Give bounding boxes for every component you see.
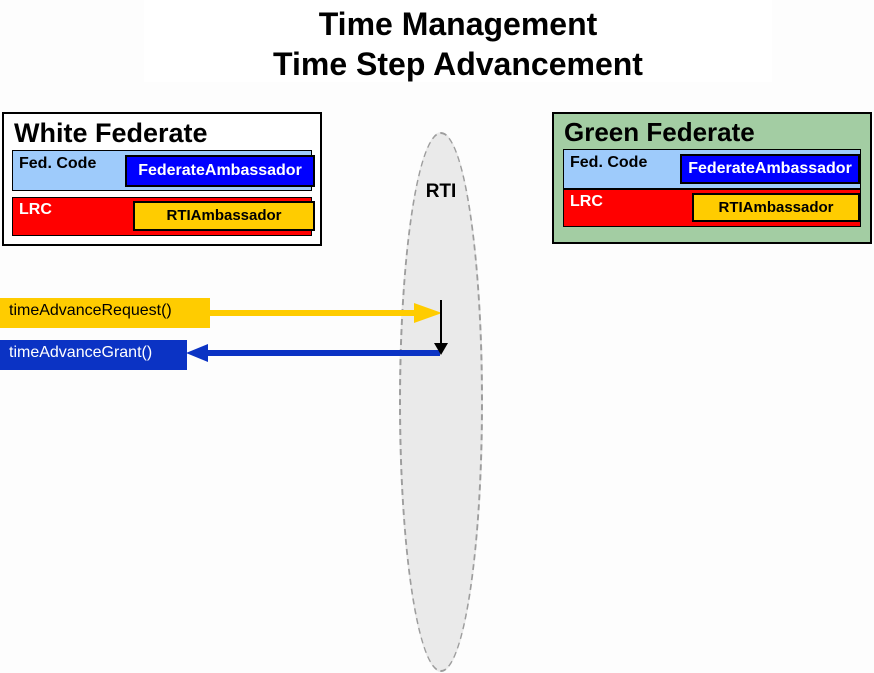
green-federate-panel: Green Federate Fed. Code FederateAmbassa… bbox=[552, 112, 872, 244]
white-fed-code-label: Fed. Code bbox=[19, 155, 96, 173]
diagram-canvas: Time Management Time Step Advancement Wh… bbox=[0, 0, 874, 673]
green-federate-fed-code-layer: Fed. Code FederateAmbassador bbox=[563, 149, 861, 189]
time-advance-request-label: timeAdvanceRequest() bbox=[0, 298, 210, 328]
rti-internal-arrow-line bbox=[440, 300, 442, 345]
green-fed-code-label: Fed. Code bbox=[570, 154, 647, 172]
rti-ellipse bbox=[399, 132, 483, 672]
time-advance-grant-arrow-line bbox=[200, 350, 440, 356]
title-block: Time Management Time Step Advancement bbox=[144, 0, 772, 82]
white-federate-fed-code-layer: Fed. Code FederateAmbassador bbox=[12, 150, 312, 191]
white-rti-ambassador-box: RTIAmbassador bbox=[133, 201, 315, 231]
time-advance-request-arrowhead-icon bbox=[414, 303, 442, 323]
page-title-line-1: Time Management bbox=[144, 4, 772, 44]
page-title-line-2: Time Step Advancement bbox=[144, 44, 772, 84]
rti-internal-arrowhead-icon bbox=[434, 343, 448, 355]
white-federate-panel: White Federate Fed. Code FederateAmbassa… bbox=[2, 112, 322, 246]
rti-label: RTI bbox=[399, 181, 483, 203]
time-advance-grant-label: timeAdvanceGrant() bbox=[0, 340, 187, 370]
time-advance-grant-arrowhead-icon bbox=[186, 344, 208, 362]
green-federate-ambassador-box: FederateAmbassador bbox=[680, 154, 860, 184]
time-advance-request-arrow-line bbox=[210, 310, 422, 316]
white-lrc-label: LRC bbox=[19, 201, 52, 219]
white-federate-title: White Federate bbox=[4, 114, 320, 150]
green-lrc-label: LRC bbox=[570, 193, 603, 211]
white-federate-lrc-layer: LRC RTIAmbassador bbox=[12, 197, 312, 236]
green-rti-ambassador-box: RTIAmbassador bbox=[692, 193, 860, 222]
green-federate-title: Green Federate bbox=[554, 114, 870, 149]
green-federate-lrc-layer: LRC RTIAmbassador bbox=[563, 189, 861, 227]
white-federate-ambassador-box: FederateAmbassador bbox=[125, 155, 315, 187]
